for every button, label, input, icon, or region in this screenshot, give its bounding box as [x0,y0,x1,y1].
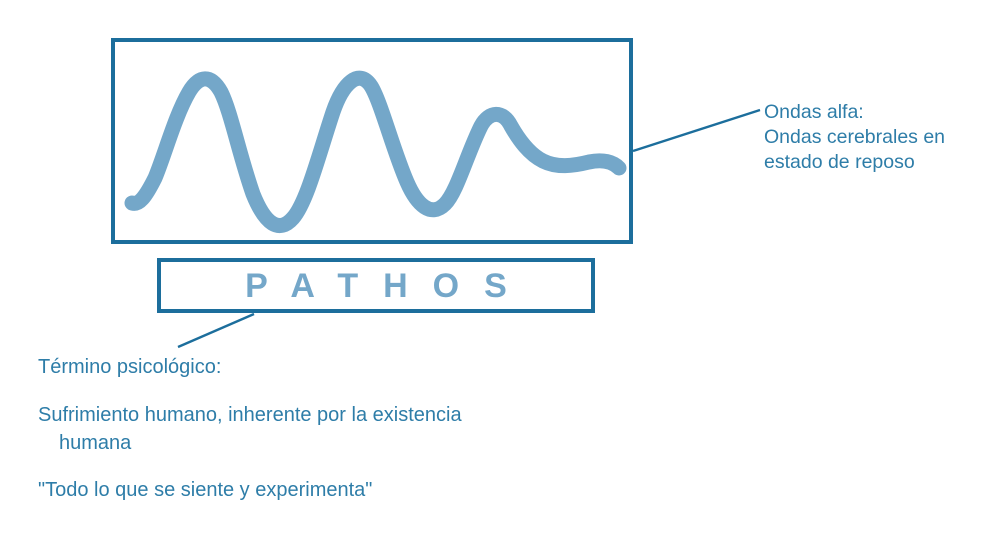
leader-line-pathos [178,314,254,347]
annotation-pathos-definition: Término psicológico: Sufrimiento humano,… [38,354,658,503]
annotation-pathos-line-4: "Todo lo que se siente y experimenta" [38,477,658,503]
alpha-brainwave-icon [115,42,637,248]
annotation-pathos-line-2: Sufrimiento humano, inherente por la exi… [38,402,658,428]
leader-line-alpha [633,110,760,151]
pathos-word-box: PATHOS [157,258,595,313]
annotation-pathos-line-3: humana [38,430,658,456]
annotation-alpha-waves: Ondas alfa: Ondas cerebrales en estado d… [764,100,979,175]
pathos-label: PATHOS [220,269,532,303]
annotation-alpha-line-1: Ondas alfa: [764,100,979,125]
annotation-pathos-line-1: Término psicológico: [38,354,658,380]
alpha-wave-panel [111,38,633,244]
diagram-canvas: PATHOS Ondas alfa: Ondas cerebrales en e… [0,0,987,547]
annotation-alpha-line-2: Ondas cerebrales en [764,125,979,150]
annotation-alpha-line-3: estado de reposo [764,150,979,175]
